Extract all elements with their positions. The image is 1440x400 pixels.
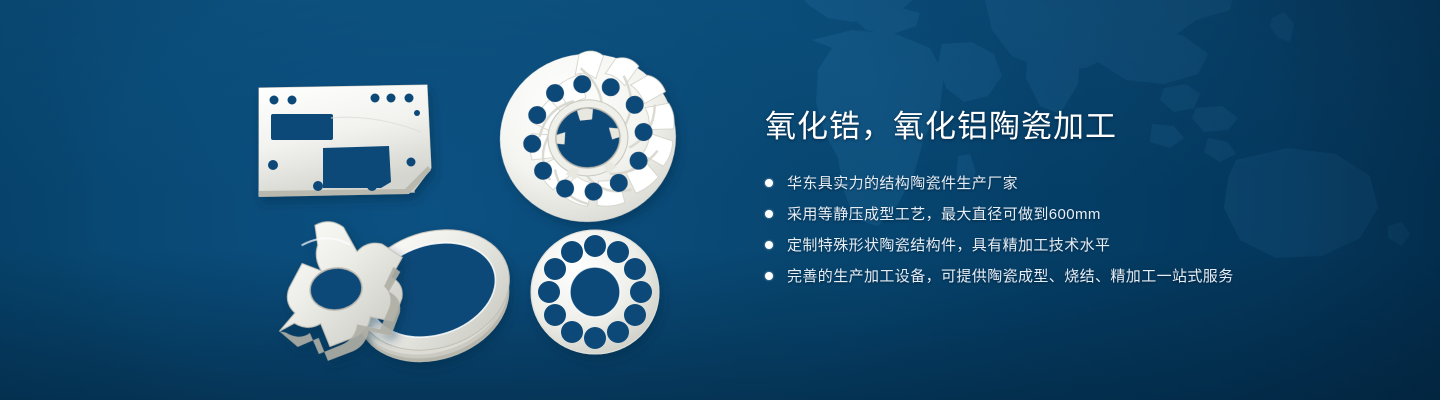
machined-ceramic-plate (259, 85, 431, 197)
list-item: 完善的生产加工设备，可提供陶瓷成型、烧结、精加工一站式服务 (765, 266, 1385, 287)
bullet-dot-icon (765, 210, 773, 218)
product-photo-collage (235, 40, 705, 385)
list-item: 华东具实力的结构陶瓷件生产厂家 (765, 173, 1385, 194)
hero-banner: 氧化锆，氧化铝陶瓷加工 华东具实力的结构陶瓷件生产厂家 采用等静压成型工艺，最大… (0, 0, 1440, 400)
page-title: 氧化锆，氧化铝陶瓷加工 (765, 108, 1385, 147)
perforated-ceramic-disc (531, 230, 659, 354)
list-item-label: 采用等静压成型工艺，最大直径可做到600mm (787, 206, 1101, 223)
feature-list: 华东具实力的结构陶瓷件生产厂家 采用等静压成型工艺，最大直径可做到600mm 定… (765, 173, 1385, 287)
ceramic-impeller (491, 43, 684, 231)
bullet-dot-icon (765, 272, 773, 280)
list-item-label: 华东具实力的结构陶瓷件生产厂家 (787, 175, 1018, 192)
list-item-label: 定制特殊形状陶瓷结构件，具有精加工技术水平 (787, 237, 1110, 254)
list-item: 定制特殊形状陶瓷结构件，具有精加工技术水平 (765, 235, 1385, 256)
bullet-dot-icon (765, 179, 773, 187)
list-item-label: 完善的生产加工设备，可提供陶瓷成型、烧结、精加工一站式服务 (787, 268, 1234, 285)
bullet-dot-icon (765, 241, 773, 249)
banner-copy: 氧化锆，氧化铝陶瓷加工 华东具实力的结构陶瓷件生产厂家 采用等静压成型工艺，最大… (765, 108, 1385, 297)
list-item: 采用等静压成型工艺，最大直径可做到600mm (765, 204, 1385, 225)
